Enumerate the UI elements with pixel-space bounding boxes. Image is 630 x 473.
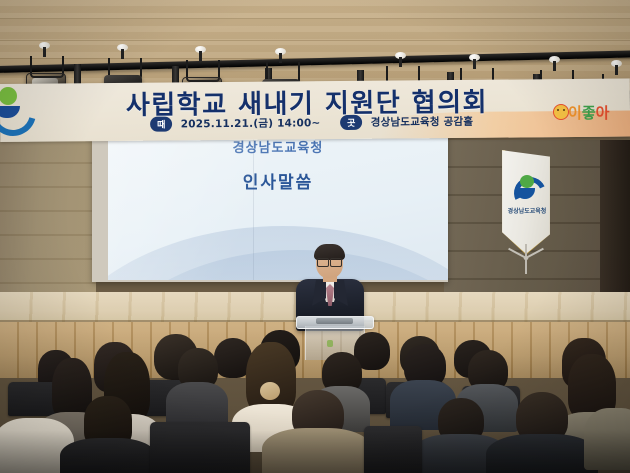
projection-screen-frame: 경상남도교육청 인사말씀 bbox=[92, 134, 448, 282]
back-wall-left bbox=[0, 140, 96, 315]
banner-when: 때 2025.11.21.(금) 14:00~ bbox=[150, 115, 320, 131]
projection-screen: 경상남도교육청 인사말씀 bbox=[108, 136, 448, 280]
event-banner: 사립학교 새내기 지원단 협의회 때 2025.11.21.(금) 14:00~… bbox=[0, 79, 630, 142]
logo-char-3: 좋 bbox=[582, 104, 596, 122]
smiley-face-icon bbox=[553, 104, 569, 120]
audience-shadow bbox=[0, 430, 630, 473]
when-value: 2025.11.21.(금) 14:00~ bbox=[181, 117, 321, 130]
ceiling-seam bbox=[0, 18, 630, 19]
ceiling-seam bbox=[0, 40, 630, 41]
screen-glare bbox=[108, 136, 448, 280]
logo-char-2: 이 bbox=[568, 104, 582, 122]
when-pill-label: 때 bbox=[150, 116, 172, 131]
flag-caption: 경상남도교육청 bbox=[504, 206, 550, 215]
podium-metal-plate bbox=[316, 318, 353, 324]
eyeglasses-icon bbox=[317, 258, 342, 265]
banner-where: 곳 경상남도교육청 공감홀 bbox=[340, 114, 473, 130]
logo-char-4: 아 bbox=[596, 104, 610, 122]
where-pill-label: 곳 bbox=[340, 115, 362, 130]
aijoa-mascot-logo-icon: 이좋아 bbox=[552, 100, 624, 128]
auditorium-photo: 경상남도교육청 인사말씀 사립학교 새내기 지원단 협의회 때 2025.11.… bbox=[0, 0, 630, 473]
where-value: 경상남도교육청 공감홀 bbox=[371, 116, 474, 129]
education-office-logo-icon bbox=[0, 86, 42, 132]
ceremonial-flag: 경상남도교육청 bbox=[494, 148, 558, 273]
flag-emblem-icon bbox=[512, 174, 540, 202]
back-wall-right-edge bbox=[600, 140, 630, 315]
